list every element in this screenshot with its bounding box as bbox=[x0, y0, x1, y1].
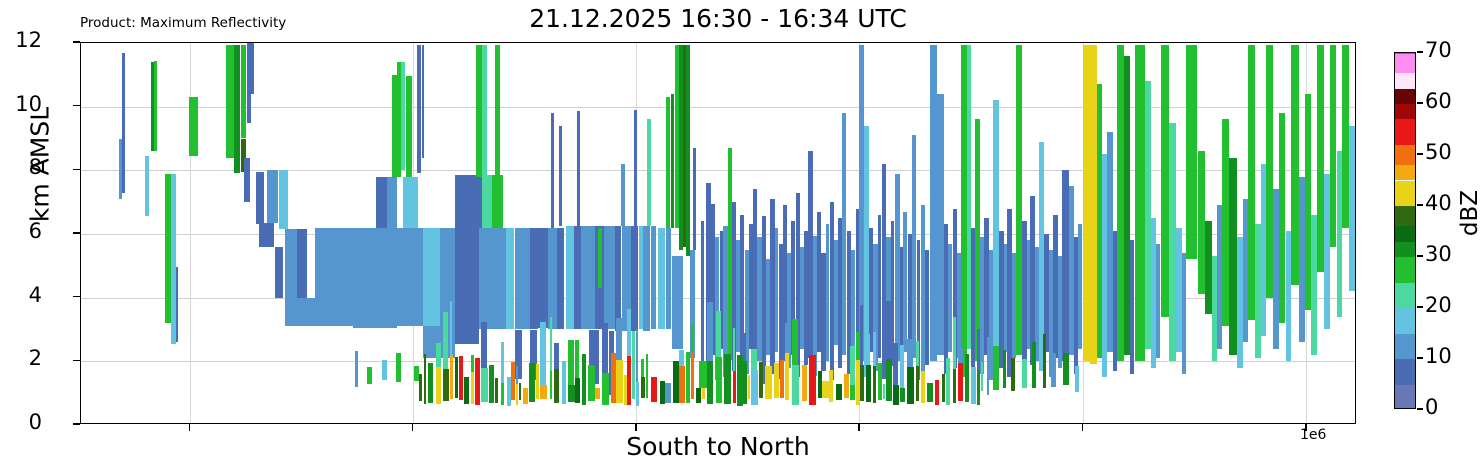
reflectivity-column bbox=[403, 177, 418, 228]
surface-echo-cell bbox=[382, 360, 387, 380]
reflectivity-column bbox=[401, 62, 405, 170]
surface-echo-cell bbox=[856, 332, 860, 360]
surface-echo-cell bbox=[602, 373, 609, 406]
reflectivity-column bbox=[1266, 45, 1273, 298]
x-axis-tick bbox=[858, 424, 860, 431]
surface-echo-cell bbox=[562, 377, 566, 405]
reflectivity-column bbox=[315, 228, 335, 327]
surface-echo-cell bbox=[707, 302, 713, 362]
radar-cross-section-figure: Product: Maximum Reflectivity 21.12.2025… bbox=[0, 0, 1482, 470]
colorbar-tick bbox=[1417, 51, 1423, 52]
colorbar-segment bbox=[1395, 89, 1415, 104]
x-axis-tick bbox=[1082, 424, 1084, 431]
surface-echo-cell bbox=[562, 361, 566, 377]
reflectivity-column bbox=[878, 215, 882, 358]
plot-area bbox=[80, 42, 1356, 424]
colorbar-tick-label: 30 bbox=[1425, 242, 1452, 266]
surface-echo-cell bbox=[907, 367, 914, 404]
reflectivity-column bbox=[397, 228, 423, 327]
colorbar-tick bbox=[1417, 204, 1423, 205]
surface-echo-cell bbox=[916, 366, 920, 402]
reflectivity-column bbox=[671, 94, 675, 228]
reflectivity-column bbox=[479, 228, 506, 330]
surface-echo-cell bbox=[916, 341, 919, 365]
x-axis-tick bbox=[189, 424, 191, 431]
colorbar-segment bbox=[1395, 308, 1415, 334]
surface-echo-cell bbox=[471, 372, 474, 404]
reflectivity-column bbox=[679, 45, 683, 250]
y-axis-tick bbox=[73, 169, 80, 171]
reflectivity-column bbox=[151, 62, 154, 151]
surface-echo-cell bbox=[907, 339, 913, 367]
surface-echo-cell bbox=[900, 388, 905, 401]
surface-echo-cell bbox=[733, 328, 736, 372]
colorbar-segment bbox=[1395, 334, 1415, 360]
reflectivity-column bbox=[631, 226, 638, 331]
reflectivity-column bbox=[176, 267, 178, 342]
reflectivity-column bbox=[826, 224, 830, 361]
surface-echo-cell bbox=[424, 354, 427, 404]
reflectivity-column bbox=[256, 172, 264, 225]
colorbar-segment bbox=[1395, 73, 1415, 88]
surface-echo-cell bbox=[873, 332, 876, 366]
y-axis-tick bbox=[73, 423, 80, 425]
surface-echo-cell bbox=[588, 365, 595, 401]
surface-echo-cell bbox=[886, 301, 892, 359]
surface-echo-cell bbox=[900, 345, 905, 389]
reflectivity-column bbox=[971, 228, 975, 371]
colorbar-segment bbox=[1395, 53, 1415, 73]
surface-echo-cell bbox=[419, 374, 422, 401]
colorbar-tick bbox=[1417, 255, 1423, 256]
reflectivity-column bbox=[1083, 45, 1091, 362]
reflectivity-column bbox=[658, 228, 666, 330]
surface-echo-cell bbox=[1043, 334, 1045, 387]
surface-echo-cell bbox=[646, 354, 648, 398]
reflectivity-column bbox=[1130, 240, 1134, 374]
surface-echo-cell bbox=[942, 374, 945, 402]
reflectivity-column bbox=[251, 43, 255, 94]
surface-echo-cell bbox=[946, 388, 950, 406]
surface-echo-cell bbox=[850, 385, 855, 400]
surface-echo-cell bbox=[836, 384, 842, 399]
surface-echo-cell bbox=[568, 340, 574, 385]
colorbar-segment bbox=[1395, 385, 1415, 410]
reflectivity-column bbox=[1161, 45, 1170, 317]
surface-echo-cell bbox=[866, 365, 871, 402]
surface-echo-cell bbox=[575, 378, 580, 403]
surface-echo-cell bbox=[751, 370, 757, 405]
x-axis-tick bbox=[412, 424, 414, 431]
reflectivity-column bbox=[1012, 253, 1016, 358]
surface-echo-cell bbox=[953, 317, 956, 369]
reflectivity-column bbox=[422, 45, 425, 158]
reflectivity-column bbox=[122, 53, 124, 193]
colorbar-tick-label: 60 bbox=[1425, 89, 1452, 113]
reflectivity-column bbox=[154, 61, 157, 152]
surface-echo-cell bbox=[536, 364, 539, 399]
surface-echo-cell bbox=[529, 363, 536, 402]
surface-echo-cell bbox=[802, 365, 808, 401]
reflectivity-column bbox=[634, 110, 637, 226]
surface-echo-cell bbox=[886, 359, 892, 401]
reflectivity-column bbox=[957, 253, 961, 358]
surface-echo-cell bbox=[1003, 350, 1006, 388]
reflectivity-column bbox=[557, 228, 564, 330]
x-axis-label: South to North bbox=[80, 432, 1356, 461]
reflectivity-column bbox=[1090, 45, 1097, 365]
colorbar-label: dBZ bbox=[1457, 143, 1482, 283]
reflectivity-column bbox=[1078, 224, 1082, 348]
surface-echo-cell bbox=[1063, 353, 1069, 384]
surface-echo-cell bbox=[519, 383, 521, 400]
surface-echo-cell bbox=[568, 385, 575, 401]
surface-echo-cell bbox=[550, 317, 552, 370]
surface-echo-cell bbox=[850, 346, 855, 385]
reflectivity-column bbox=[647, 119, 651, 226]
surface-echo-cell bbox=[860, 365, 863, 401]
reflectivity-column bbox=[244, 158, 249, 203]
reflectivity-column bbox=[651, 226, 656, 329]
reflectivity-column bbox=[551, 113, 554, 228]
surface-echo-cell bbox=[707, 361, 713, 404]
reflectivity-column bbox=[482, 175, 492, 228]
surface-echo-cell bbox=[550, 371, 553, 399]
colorbar-segment bbox=[1395, 145, 1415, 165]
surface-echo-cell bbox=[860, 305, 863, 365]
reflectivity-column bbox=[285, 298, 314, 327]
reflectivity-column bbox=[492, 175, 503, 228]
surface-echo-cell bbox=[641, 377, 644, 398]
surface-echo-cell bbox=[428, 363, 433, 403]
surface-echo-cell bbox=[724, 354, 730, 405]
surface-echo-cell bbox=[636, 382, 639, 406]
surface-echo-cell bbox=[785, 353, 789, 399]
reflectivity-column bbox=[912, 135, 916, 358]
surface-echo-cell bbox=[829, 370, 833, 402]
surface-echo-cell bbox=[993, 346, 999, 390]
x-axis-tick bbox=[635, 424, 637, 431]
reflectivity-column bbox=[980, 237, 984, 374]
reflectivity-column bbox=[275, 247, 283, 298]
reflectivity-column bbox=[495, 45, 500, 177]
surface-echo-cell bbox=[965, 354, 969, 402]
surface-echo-cell bbox=[481, 368, 487, 403]
surface-echo-cell bbox=[809, 355, 816, 405]
surface-echo-cell bbox=[927, 383, 933, 401]
surface-echo-cell bbox=[780, 360, 784, 399]
reflectivity-column bbox=[482, 45, 487, 176]
surface-echo-cell bbox=[679, 366, 685, 403]
reflectivity-column bbox=[701, 221, 704, 361]
surface-echo-cell bbox=[443, 312, 449, 368]
reflectivity-column bbox=[1198, 151, 1206, 294]
reflectivity-column bbox=[1169, 123, 1176, 362]
surface-echo-cell bbox=[489, 365, 494, 403]
reflectivity-column bbox=[145, 156, 149, 216]
surface-echo-cell bbox=[575, 340, 579, 378]
reflectivity-column bbox=[335, 228, 353, 327]
colorbar-segment bbox=[1395, 104, 1415, 119]
reflectivity-column bbox=[1229, 158, 1237, 355]
reflectivity-column bbox=[672, 256, 683, 348]
surface-echo-cell bbox=[651, 377, 658, 401]
surface-echo-cell bbox=[1032, 342, 1036, 388]
chart-title: 21.12.2025 16:30 - 16:34 UTC bbox=[80, 4, 1356, 33]
surface-echo-cell bbox=[481, 322, 487, 367]
colorbar-tick-label: 50 bbox=[1425, 140, 1452, 164]
surface-echo-cell bbox=[471, 355, 474, 372]
reflectivity-column bbox=[925, 250, 929, 365]
surface-echo-cell bbox=[971, 367, 976, 403]
surface-echo-cell bbox=[475, 358, 480, 405]
colorbar-segment bbox=[1395, 165, 1415, 180]
surface-echo-cell bbox=[1022, 359, 1026, 388]
y-axis-tick bbox=[73, 232, 80, 234]
colorbar-segment bbox=[1395, 283, 1415, 309]
surface-echo-cell bbox=[751, 349, 757, 370]
surface-echo-cell bbox=[953, 369, 956, 403]
surface-echo-cell bbox=[673, 361, 678, 403]
surface-echo-cell bbox=[455, 357, 458, 398]
surface-echo-cell bbox=[958, 363, 963, 401]
surface-echo-cell bbox=[495, 378, 498, 403]
colorbar-tick-label: 10 bbox=[1425, 344, 1452, 368]
reflectivity-column bbox=[775, 228, 779, 352]
reflectivity-column bbox=[574, 226, 582, 329]
surface-echo-cell bbox=[686, 352, 690, 403]
surface-echo-cell bbox=[1075, 366, 1079, 392]
surface-echo-cell bbox=[702, 388, 705, 399]
surface-echo-cell bbox=[450, 301, 452, 356]
surface-echo-cell bbox=[785, 323, 789, 353]
y-axis-tick bbox=[73, 360, 80, 362]
reflectivity-column bbox=[566, 226, 574, 329]
surface-echo-cell bbox=[1011, 358, 1014, 391]
surface-echo-cell bbox=[1051, 353, 1056, 388]
reflectivity-column bbox=[241, 45, 247, 139]
reflectivity-column bbox=[598, 228, 602, 288]
surface-echo-cell bbox=[636, 329, 638, 382]
surface-echo-cell bbox=[878, 363, 882, 399]
surface-echo-cell bbox=[987, 337, 989, 395]
reflectivity-column bbox=[693, 148, 696, 250]
reflectivity-column bbox=[643, 226, 650, 331]
colorbar-tick-label: 40 bbox=[1425, 191, 1452, 215]
reflectivity-column bbox=[577, 111, 581, 226]
reflectivity-column bbox=[279, 170, 289, 229]
reflectivity-column bbox=[506, 228, 514, 330]
reflectivity-column bbox=[1117, 45, 1124, 362]
surface-echo-cell bbox=[516, 366, 518, 384]
reflectivity-column bbox=[189, 97, 197, 156]
reflectivity-column bbox=[1342, 45, 1349, 228]
reflectivity-column bbox=[930, 45, 938, 362]
colorbar-segment bbox=[1395, 226, 1415, 241]
colorbar-segment bbox=[1395, 53, 1415, 54]
reflectivity-column bbox=[353, 228, 376, 328]
surface-echo-cell bbox=[893, 385, 899, 405]
reflectivity-column bbox=[297, 229, 307, 299]
surface-echo-cell bbox=[627, 356, 631, 405]
reflectivity-column bbox=[581, 226, 595, 329]
surface-echo-cell bbox=[436, 367, 441, 404]
surface-echo-cell bbox=[554, 343, 559, 369]
y-axis-tick-label: 12 bbox=[15, 28, 42, 52]
reflectivity-column bbox=[903, 212, 907, 352]
y-axis-tick bbox=[73, 41, 80, 43]
surface-echo-cell bbox=[616, 318, 622, 360]
reflectivity-column bbox=[1186, 45, 1197, 260]
surface-echo-cell bbox=[743, 333, 746, 361]
surface-echo-cell bbox=[501, 342, 504, 384]
reflectivity-column bbox=[376, 177, 387, 228]
surface-echo-cell bbox=[602, 323, 608, 372]
reflectivity-column bbox=[455, 228, 479, 344]
colorbar bbox=[1394, 52, 1416, 409]
surface-echo-cell bbox=[765, 366, 772, 399]
reflectivity-column bbox=[1349, 126, 1355, 292]
surface-echo-cell bbox=[748, 375, 751, 400]
x-axis-offset-text: 1e6 bbox=[1300, 427, 1326, 443]
surface-echo-cell bbox=[946, 358, 950, 388]
surface-echo-cell bbox=[691, 324, 694, 352]
y-axis-tick-label: 0 bbox=[29, 410, 42, 434]
surface-echo-cell bbox=[792, 319, 798, 364]
surface-echo-cell bbox=[977, 329, 980, 371]
surface-echo-cell bbox=[844, 374, 850, 398]
surface-echo-cell bbox=[921, 323, 924, 371]
surface-echo-cell bbox=[691, 352, 694, 399]
reflectivity-column bbox=[259, 223, 274, 247]
colorbar-tick bbox=[1417, 153, 1423, 154]
surface-echo-cell bbox=[873, 366, 876, 403]
reflectivity-column bbox=[285, 229, 297, 297]
surface-echo-cell bbox=[616, 360, 623, 404]
surface-echo-cell bbox=[774, 363, 779, 398]
reflectivity-column bbox=[387, 177, 397, 228]
reflectivity-column bbox=[948, 244, 952, 352]
reflectivity-column bbox=[1279, 113, 1285, 323]
surface-echo-cell bbox=[743, 361, 747, 404]
reflectivity-column bbox=[1317, 45, 1324, 273]
surface-echo-cell bbox=[679, 350, 684, 366]
surface-echo-cell bbox=[396, 353, 401, 382]
reflectivity-column bbox=[1135, 45, 1145, 362]
reflectivity-column bbox=[1182, 253, 1186, 374]
surface-echo-cell bbox=[627, 309, 631, 356]
surface-echo-cell bbox=[893, 343, 898, 386]
surface-echo-cell bbox=[822, 381, 829, 398]
surface-echo-cell bbox=[958, 348, 963, 363]
surface-echo-cell bbox=[733, 371, 736, 403]
colorbar-tick-label: 20 bbox=[1425, 293, 1452, 317]
reflectivity-column bbox=[455, 175, 470, 228]
surface-echo-cell bbox=[501, 383, 504, 405]
surface-echo-cell bbox=[450, 355, 453, 399]
reflectivity-column bbox=[804, 231, 808, 365]
surface-echo-cell bbox=[554, 369, 560, 403]
reflectivity-column bbox=[666, 228, 670, 330]
surface-echo-cell bbox=[523, 388, 527, 404]
surface-echo-cell bbox=[780, 298, 784, 360]
reflectivity-column bbox=[470, 175, 481, 228]
surface-echo-cell bbox=[716, 311, 721, 358]
reflectivity-column bbox=[615, 226, 621, 331]
colorbar-segment bbox=[1395, 119, 1415, 145]
colorbar-segment bbox=[1395, 257, 1415, 283]
surface-echo-cell bbox=[355, 351, 358, 386]
surface-echo-cell bbox=[464, 377, 469, 404]
reflectivity-column bbox=[417, 45, 421, 174]
colorbar-tick bbox=[1417, 357, 1423, 358]
surface-echo-cell bbox=[511, 362, 515, 399]
reflectivity-column bbox=[1222, 119, 1228, 326]
surface-echo-cell bbox=[921, 371, 925, 403]
surface-echo-cell bbox=[632, 375, 636, 399]
surface-echo-cell bbox=[665, 383, 671, 404]
y-axis-tick bbox=[73, 296, 80, 298]
surface-echo-cell bbox=[436, 343, 441, 367]
surface-echo-cell bbox=[641, 359, 644, 377]
reflectivity-data-layer bbox=[81, 43, 1355, 423]
reflectivity-column bbox=[406, 76, 412, 179]
reflectivity-column bbox=[423, 228, 440, 327]
surface-echo-cell bbox=[443, 369, 449, 401]
reflectivity-column bbox=[842, 113, 846, 355]
colorbar-segment bbox=[1395, 242, 1415, 257]
reflectivity-column bbox=[376, 228, 398, 328]
surface-echo-cell bbox=[414, 366, 419, 381]
surface-echo-cell bbox=[818, 371, 822, 399]
colorbar-segment bbox=[1395, 206, 1415, 226]
colorbar-tick bbox=[1417, 408, 1423, 409]
reflectivity-column bbox=[1291, 45, 1299, 285]
colorbar-segment bbox=[1395, 359, 1415, 385]
surface-echo-cell bbox=[981, 362, 984, 391]
reflectivity-column bbox=[762, 216, 766, 383]
reflectivity-column bbox=[226, 45, 234, 158]
reflectivity-column bbox=[686, 45, 690, 257]
y-axis-tick-label: 4 bbox=[29, 283, 42, 307]
y-axis-label: km AMSL bbox=[26, 65, 55, 265]
surface-echo-cell bbox=[696, 388, 701, 403]
surface-echo-cell bbox=[866, 334, 870, 365]
reflectivity-column bbox=[621, 164, 625, 226]
colorbar-tick-label: 0 bbox=[1425, 395, 1438, 419]
y-axis-tick-label: 2 bbox=[29, 346, 42, 370]
colorbar-tick-label: 70 bbox=[1425, 38, 1452, 62]
surface-echo-cell bbox=[582, 354, 587, 405]
colorbar-tick bbox=[1417, 102, 1423, 103]
reflectivity-column bbox=[1248, 45, 1255, 320]
reflectivity-column bbox=[666, 97, 670, 228]
surface-echo-cell bbox=[540, 322, 546, 385]
surface-echo-cell bbox=[540, 385, 547, 398]
surface-echo-cell bbox=[367, 367, 372, 384]
reflectivity-column bbox=[851, 250, 855, 349]
surface-echo-cell bbox=[935, 380, 939, 405]
surface-echo-cell bbox=[632, 331, 635, 375]
reflectivity-column bbox=[1058, 256, 1062, 367]
reflectivity-column bbox=[267, 170, 278, 223]
reflectivity-column bbox=[559, 126, 562, 226]
surface-echo-cell bbox=[459, 356, 463, 400]
surface-echo-cell bbox=[792, 365, 799, 406]
surface-echo-cell bbox=[759, 362, 762, 399]
colorbar-segment bbox=[1395, 181, 1415, 207]
surface-echo-cell bbox=[595, 388, 599, 398]
